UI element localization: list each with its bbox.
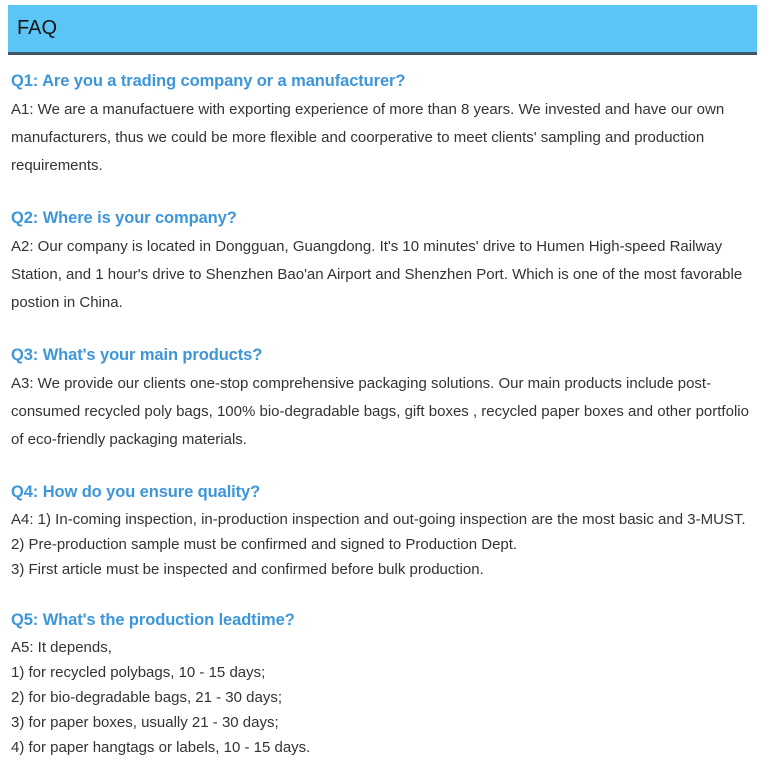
faq-answer-2: A2: Our company is located in Dongguan, … <box>11 233 753 317</box>
faq-question-3: Q3: What's your main products? <box>11 344 753 366</box>
faq-question-1: Q1: Are you a trading company or a manuf… <box>11 70 753 92</box>
faq-answer-5: A5: It depends, 1) for recycled polybags… <box>11 635 753 760</box>
faq-answer-line: 3) for paper boxes, usually 21 - 30 days… <box>11 710 753 735</box>
faq-item-1: Q1: Are you a trading company or a manuf… <box>11 70 753 180</box>
faq-question-5: Q5: What's the production leadtime? <box>11 609 753 631</box>
faq-answer-4: A4: 1) In-coming inspection, in-producti… <box>11 507 753 582</box>
faq-banner: FAQ <box>8 5 757 55</box>
faq-page: FAQ Q1: Are you a trading company or a m… <box>0 0 765 748</box>
faq-item-5: Q5: What's the production leadtime? A5: … <box>11 609 753 760</box>
faq-banner-title: FAQ <box>17 14 57 42</box>
faq-answer-3: A3: We provide our clients one-stop comp… <box>11 370 753 454</box>
faq-answer-line: A1: We are a manufactuere with exporting… <box>11 96 753 180</box>
faq-answer-1: A1: We are a manufactuere with exporting… <box>11 96 753 180</box>
faq-answer-line: A4: 1) In-coming inspection, in-producti… <box>11 507 753 532</box>
faq-list: Q1: Are you a trading company or a manuf… <box>11 70 753 760</box>
faq-item-4: Q4: How do you ensure quality? A4: 1) In… <box>11 481 753 582</box>
faq-answer-line: 2) for bio-degradable bags, 21 - 30 days… <box>11 685 753 710</box>
faq-answer-line: A2: Our company is located in Dongguan, … <box>11 233 753 317</box>
faq-question-2: Q2: Where is your company? <box>11 207 753 229</box>
faq-answer-line: A3: We provide our clients one-stop comp… <box>11 370 753 454</box>
faq-answer-line: 3) First article must be inspected and c… <box>11 557 753 582</box>
faq-answer-line: A5: It depends, <box>11 635 753 660</box>
faq-item-3: Q3: What's your main products? A3: We pr… <box>11 344 753 454</box>
faq-answer-line: 2) Pre-production sample must be confirm… <box>11 532 753 557</box>
faq-item-2: Q2: Where is your company? A2: Our compa… <box>11 207 753 317</box>
faq-answer-line: 1) for recycled polybags, 10 - 15 days; <box>11 660 753 685</box>
faq-question-4: Q4: How do you ensure quality? <box>11 481 753 503</box>
